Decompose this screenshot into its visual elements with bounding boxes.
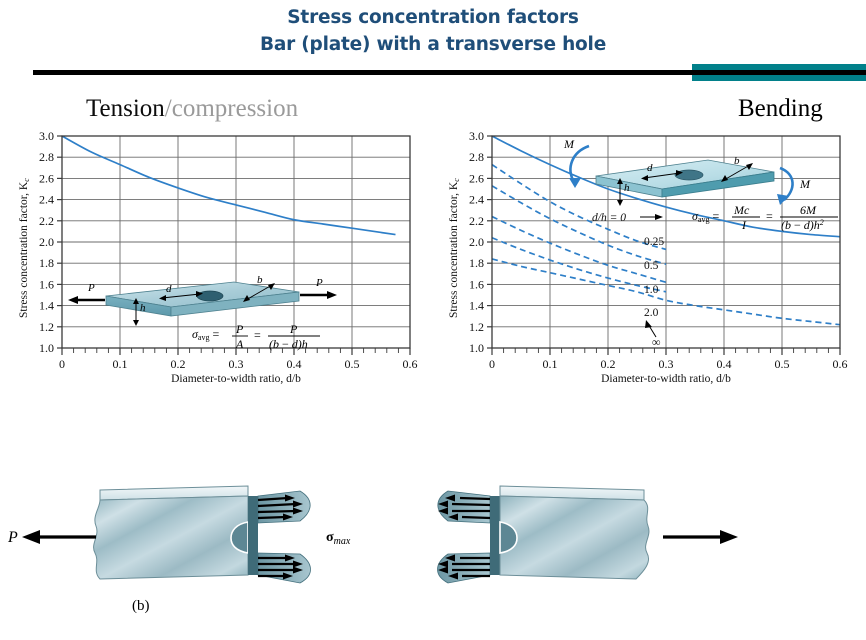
bending-x-tick-label: 0.1 [543, 357, 558, 371]
tension-x-tick-label: 0.2 [171, 357, 186, 371]
tension-x-tick-label: 0.6 [403, 357, 418, 371]
tension-x-tick-label: 0.4 [287, 357, 302, 371]
right-stress-profile-lower [437, 553, 490, 583]
tension-xaxis-labels: 00.10.20.30.40.50.6 [59, 357, 418, 371]
tension-y-tick-label: 2.6 [39, 171, 54, 185]
divider-rule [33, 70, 736, 75]
tension-formula-sigma-sub: avg [198, 333, 210, 342]
bending-label-dh-inf: ∞ [652, 335, 661, 349]
bending-chart-svg: 1.01.21.41.61.82.02.22.42.62.83.0 00.10.… [444, 128, 856, 390]
tension-x-tick-label: 0.1 [113, 357, 128, 371]
bending-label-dh-0: d/h = 0 [592, 212, 626, 224]
bending-inset-moment-right: M [799, 177, 811, 191]
tension-y-tick-label: 2.4 [39, 193, 54, 207]
tension-y-tick-label: 2.0 [39, 235, 54, 249]
bending-y-tick-label: 1.2 [469, 320, 484, 334]
bending-inset-hole-label: d [647, 162, 653, 174]
bending-y-tick-label: 2.2 [469, 214, 484, 228]
bending-label-dh-025: 0.25 [644, 236, 664, 248]
heading-tension-primary: Tension [86, 95, 165, 122]
bending-x-tick-label: 0.3 [659, 357, 674, 371]
bending-x-tick-label: 0.2 [601, 357, 616, 371]
bending-x-axis-title: Diameter-to-width ratio, d/b [601, 373, 731, 385]
bending-y-tick-label: 2.4 [469, 193, 484, 207]
bending-x-tick-label: 0.5 [775, 357, 790, 371]
bending-y-tick-label: 3.0 [469, 129, 484, 143]
tension-inset-width-label: b [257, 274, 263, 286]
left-bar-segment [94, 486, 258, 579]
bending-x-tick-label: 0.4 [717, 357, 732, 371]
bending-inset-thickness-label: h [624, 182, 630, 194]
bending-curve-dh-20 [492, 238, 666, 292]
bending-y-tick-label: 1.6 [469, 277, 484, 291]
bending-x-tick-label: 0.6 [833, 357, 848, 371]
chart-tension-compression: 1.01.21.41.61.82.02.22.42.62.83.0 00.10.… [14, 128, 426, 390]
svg-text:P: P [235, 322, 244, 336]
bending-curve-dh-10 [492, 217, 666, 283]
left-stress-profile-upper [258, 491, 310, 523]
chart-bending: 1.01.21.41.61.82.02.22.42.62.83.0 00.10.… [444, 128, 856, 390]
bending-x-tick-label: 0 [489, 357, 495, 371]
svg-text:=: = [254, 328, 261, 342]
right-stress-profile-upper [438, 491, 490, 523]
tension-y-tick-label: 1.2 [39, 320, 54, 334]
tension-inset-load-left: P [87, 282, 95, 294]
tension-inset-thickness-label: h [140, 302, 146, 314]
tension-inset-hole-label: d [166, 283, 172, 295]
tension-y-axis-title: Stress concentration factor, Kc [18, 178, 31, 318]
tension-plot-ticks [57, 136, 410, 355]
tension-y-tick-label: 3.0 [39, 129, 54, 143]
page-title-line-2: Bar (plate) with a transverse hole [0, 31, 866, 58]
bending-xaxis-labels: 00.10.20.30.40.50.6 [489, 357, 848, 371]
tension-y-tick-label: 1.6 [39, 277, 54, 291]
bending-label-dh-05: 0.5 [644, 260, 659, 272]
tension-chart-svg: 1.01.21.41.61.82.02.22.42.62.83.0 00.10.… [14, 128, 426, 390]
svg-text:(b − d)h: (b − d)h [269, 337, 308, 351]
bending-inset-formula: σavg = Mc I = 6M (b − d)h2 [692, 203, 838, 232]
tension-y-tick-label: 2.8 [39, 150, 54, 164]
tension-x-tick-label: 0 [59, 357, 65, 371]
bending-y-tick-label: 2.6 [469, 171, 484, 185]
slide-title-block: Stress concentration factors Bar (plate)… [0, 4, 866, 58]
page-title-line-1: Stress concentration factors [0, 4, 866, 31]
bending-y-tick-label: 2.8 [469, 150, 484, 164]
bending-inset-moment-left: M [563, 137, 575, 151]
svg-text:Mc: Mc [733, 203, 750, 217]
bending-formula-sigma-sub: avg [698, 215, 710, 224]
tension-plot-grid [62, 136, 410, 348]
bending-axis-labels: 1.01.21.41.61.82.02.22.42.62.83.0 [469, 129, 484, 355]
left-load-arrow [22, 530, 96, 544]
svg-text:(b − d)h2: (b − d)h2 [781, 218, 824, 232]
bending-label-dh-20: 2.0 [644, 307, 659, 319]
bottom-figure-caption: (b) [132, 598, 150, 614]
right-bar-segment [490, 486, 649, 579]
bending-y-tick-label: 2.0 [469, 235, 484, 249]
bottom-figure-load-label: P [7, 529, 18, 546]
tension-inset-load-right: P [315, 277, 323, 289]
bending-y-axis-title: Stress concentration factor, Kc [448, 178, 461, 318]
tension-axis-labels: 1.01.21.41.61.82.02.22.42.62.83.0 [39, 129, 54, 355]
divider-rule-accent-overlay [692, 70, 866, 75]
stress-distribution-svg: P σmax [0, 438, 866, 635]
tension-y-tick-label: 2.2 [39, 214, 54, 228]
bending-curve-dh-05 [492, 186, 666, 264]
bending-y-tick-label: 1.0 [469, 341, 484, 355]
bending-y-tick-label: 1.4 [469, 299, 484, 313]
svg-text:=: = [766, 209, 773, 223]
stress-distribution-figure: P σmax [0, 438, 866, 635]
tension-inset-diagram: P P h d b σavg = P A [68, 274, 337, 351]
tension-x-tick-label: 0.3 [229, 357, 244, 371]
tension-y-tick-label: 1.4 [39, 299, 54, 313]
tension-curve-kc [62, 136, 396, 235]
bending-label-dh-10: 1.0 [644, 284, 659, 296]
left-stress-profile-lower [258, 553, 311, 583]
section-heading-bending: Bending [738, 94, 823, 124]
section-heading-tension: Tension/compression [86, 94, 298, 124]
svg-text:6M: 6M [800, 203, 817, 217]
tension-x-tick-label: 0.5 [345, 357, 360, 371]
svg-text:A: A [235, 337, 244, 351]
svg-text:σavg =: σavg = [692, 209, 719, 224]
svg-text:P: P [289, 322, 298, 336]
bending-y-tick-label: 1.8 [469, 256, 484, 270]
right-load-arrow [663, 530, 738, 544]
svg-text:σavg =: σavg = [192, 327, 219, 342]
tension-x-axis-title: Diameter-to-width ratio, d/b [171, 373, 301, 385]
heading-tension-secondary: /compression [165, 95, 298, 122]
tension-y-tick-label: 1.8 [39, 256, 54, 270]
bending-inset-width-label: b [734, 155, 740, 167]
tension-y-tick-label: 1.0 [39, 341, 54, 355]
sigma-max-label: σmax [326, 530, 351, 547]
